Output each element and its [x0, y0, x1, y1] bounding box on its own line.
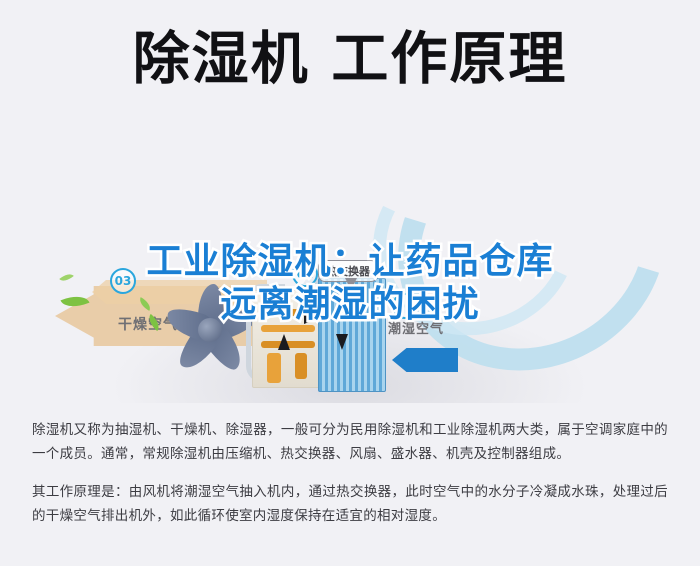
dehumidifier-internals: [252, 278, 387, 396]
badge-02-heat-exchanger: 02: [292, 261, 318, 287]
paragraph-2: 其工作原理是：由风机将潮湿空气抽入机内，通过热交换器，此时空气中的水分子冷凝成水…: [32, 480, 668, 528]
header: 除湿机 工作原理: [0, 0, 700, 118]
evaporator-fins: [318, 278, 386, 392]
fan-icon: [160, 280, 260, 380]
airflow-right-arrow-icon: [304, 312, 319, 324]
article-body: 除湿机又称为抽湿机、干燥机、除湿器，一般可分为民用除湿机和工业除湿机两大类，属于…: [32, 418, 668, 542]
copper-coil: [267, 353, 281, 383]
airflow-up-arrow-icon: [278, 334, 290, 350]
fan-hub: [198, 318, 222, 342]
callout-pointer-icon: [345, 278, 357, 290]
paragraph-1: 除湿机又称为抽湿机、干燥机、除湿器，一般可分为民用除湿机和工业除湿机两大类，属于…: [32, 418, 668, 466]
page-root: 除湿机 工作原理 干燥空气: [0, 0, 700, 566]
badge-01-humid-air: 01: [392, 293, 418, 319]
airflow-down-arrow-icon: [336, 334, 348, 350]
badge-03-dry-air: 03: [110, 268, 136, 294]
copper-coil: [295, 353, 307, 379]
principle-illustration: 干燥空气: [0, 118, 700, 403]
copper-coil: [261, 325, 315, 332]
humid-air-label: 潮湿空气: [388, 318, 444, 337]
page-title: 除湿机 工作原理: [0, 24, 700, 94]
